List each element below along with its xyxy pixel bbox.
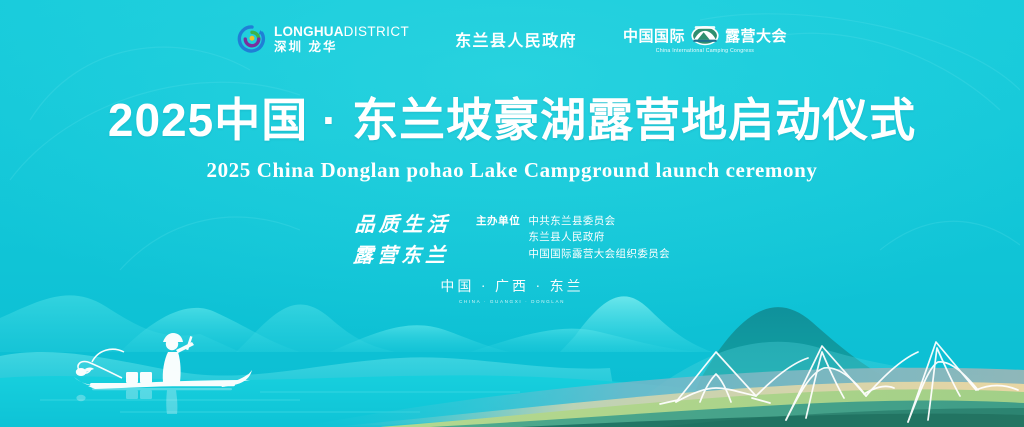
place-cn: 中国 · 广西 · 东兰 [0,276,1024,296]
organizer-item: 中共东兰县委员会 [528,213,670,229]
slogan-line-1: 品质生活 [354,210,452,241]
organizers-list: 中共东兰县委员会 东兰县人民政府 中国国际露营大会组织委员会 [528,213,670,262]
longhua-en-bold: LONGHUA [274,24,344,39]
government-cn-name: 东兰县人民政府 [455,27,577,51]
camping-congress-cn-left: 中国国际 [623,25,685,46]
donglan-government-logo: 东兰县人民政府 [455,27,577,51]
event-slogan: 品质生活 露营东兰 [352,208,451,272]
organizer-item: 东兰县人民政府 [528,229,670,245]
slogan-line-2: 露营东兰 [352,241,450,272]
organizers-label: 主办单位 [476,213,520,228]
logo-bar: LONGHUADISTRICT 深圳 龙华 东兰县人民政府 中国国际 [0,24,1024,54]
longhua-en-light: DISTRICT [344,24,409,39]
longhua-en-name: LONGHUADISTRICT [274,25,409,39]
longhua-district-logo: LONGHUADISTRICT 深圳 龙华 [237,24,409,54]
organizers-block: 主办单位 中共东兰县委员会 东兰县人民政府 中国国际露营大会组织委员会 [476,208,670,262]
place-en: CHINA · GUANGXI · DONGLAN [0,299,1024,304]
camping-congress-logo: 中国国际 露营大会 China International Camping Co… [623,24,787,54]
event-banner: LONGHUADISTRICT 深圳 龙华 东兰县人民政府 中国国际 [0,0,1024,427]
subtitle-english: 2025 China Donglan pohao Lake Campground… [0,158,1024,183]
slogan-organizer-row: 品质生活 露营东兰 主办单位 中共东兰县委员会 东兰县人民政府 中国国际露营大会… [0,208,1024,272]
camping-congress-en-name: China International Camping Congress [656,48,754,54]
longhua-cn-name: 深圳 龙华 [274,41,409,54]
longhua-circle-logo-icon [237,24,267,54]
camping-congress-badge-icon [690,24,720,46]
organizer-item: 中国国际露营大会组织委员会 [528,246,670,262]
camping-congress-cn-right: 露营大会 [725,25,787,46]
main-title: 2025中国 · 东兰坡豪湖露营地启动仪式 [0,96,1024,144]
place-line: 中国 · 广西 · 东兰 CHINA · GUANGXI · DONGLAN [0,276,1024,304]
